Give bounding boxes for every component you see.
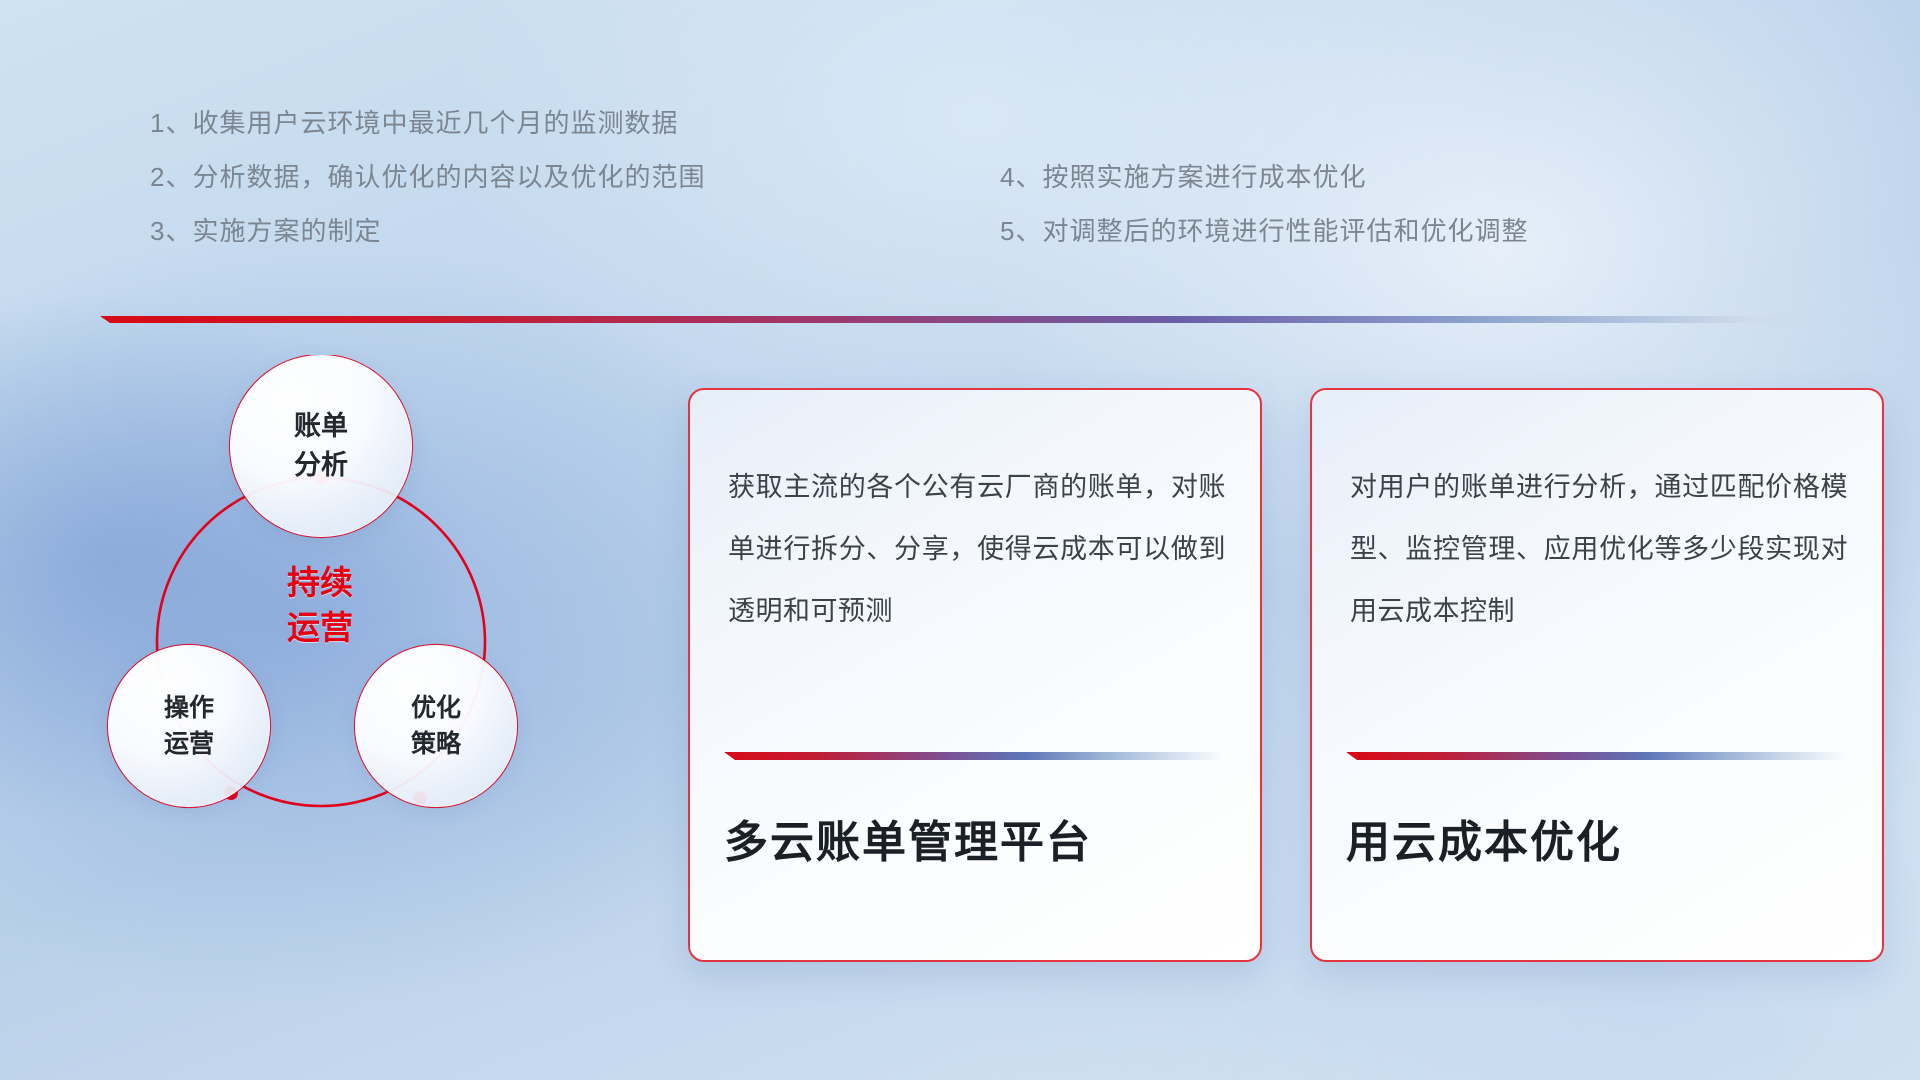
card-multicloud-billing-platform[interactable]: 获取主流的各个公有云厂商的账单，对账单进行拆分、分享，使得云成本可以做到透明和可… [688,388,1262,962]
venn-bubble-optimization-strategy[interactable]: 优化 策略 [355,645,517,807]
card-2-body: 对用户的账单进行分析，通过匹配价格模型、监控管理、应用优化等多少段实现对用云成本… [1350,456,1848,642]
venn-bubble-billing-analysis[interactable]: 账单 分析 [230,355,412,537]
step-item-1: 1、收集用户云环境中最近几个月的监测数据 [150,96,705,150]
venn-center-label: 持续 运营 [220,560,420,650]
venn-bubble-right-line1: 优化 [411,690,461,726]
card-1-body: 获取主流的各个公有云厂商的账单，对账单进行拆分、分享，使得云成本可以做到透明和可… [728,456,1226,642]
venn-bubble-right-line2: 策略 [411,726,461,762]
card-2-title: 用云成本优化 [1346,806,1858,870]
venn-bubble-operations[interactable]: 操作 运营 [108,645,270,807]
card-1-title: 多云账单管理平台 [724,806,1236,870]
step-item-4: 4、按照实施方案进行成本优化 [1000,150,1528,204]
card-cloud-cost-optimization[interactable]: 对用户的账单进行分析，通过匹配价格模型、监控管理、应用优化等多少段实现对用云成本… [1310,388,1884,962]
venn-center-line2: 运营 [220,605,420,650]
slide-canvas: 1、收集用户云环境中最近几个月的监测数据 2、分析数据，确认优化的内容以及优化的… [0,0,1920,1080]
venn-center-line1: 持续 [220,560,420,605]
header-gradient-rule [100,316,1840,323]
card-1-divider [724,752,1224,760]
step-item-2: 2、分析数据，确认优化的内容以及优化的范围 [150,150,705,204]
step-item-5: 5、对调整后的环境进行性能评估和优化调整 [1000,204,1528,258]
venn-bubble-left-line2: 运营 [164,726,214,762]
card-2-divider [1346,752,1846,760]
venn-bubble-left-line1: 操作 [164,690,214,726]
steps-right-column: 4、按照实施方案进行成本优化 5、对调整后的环境进行性能评估和优化调整 [1000,150,1528,258]
venn-diagram: 账单 分析 操作 运营 优化 策略 持续 运营 [100,355,640,915]
venn-bubble-top-line1: 账单 [294,407,348,446]
venn-bubble-top-line2: 分析 [294,446,348,485]
step-item-3: 3、实施方案的制定 [150,204,705,258]
steps-left-column: 1、收集用户云环境中最近几个月的监测数据 2、分析数据，确认优化的内容以及优化的… [150,96,705,258]
